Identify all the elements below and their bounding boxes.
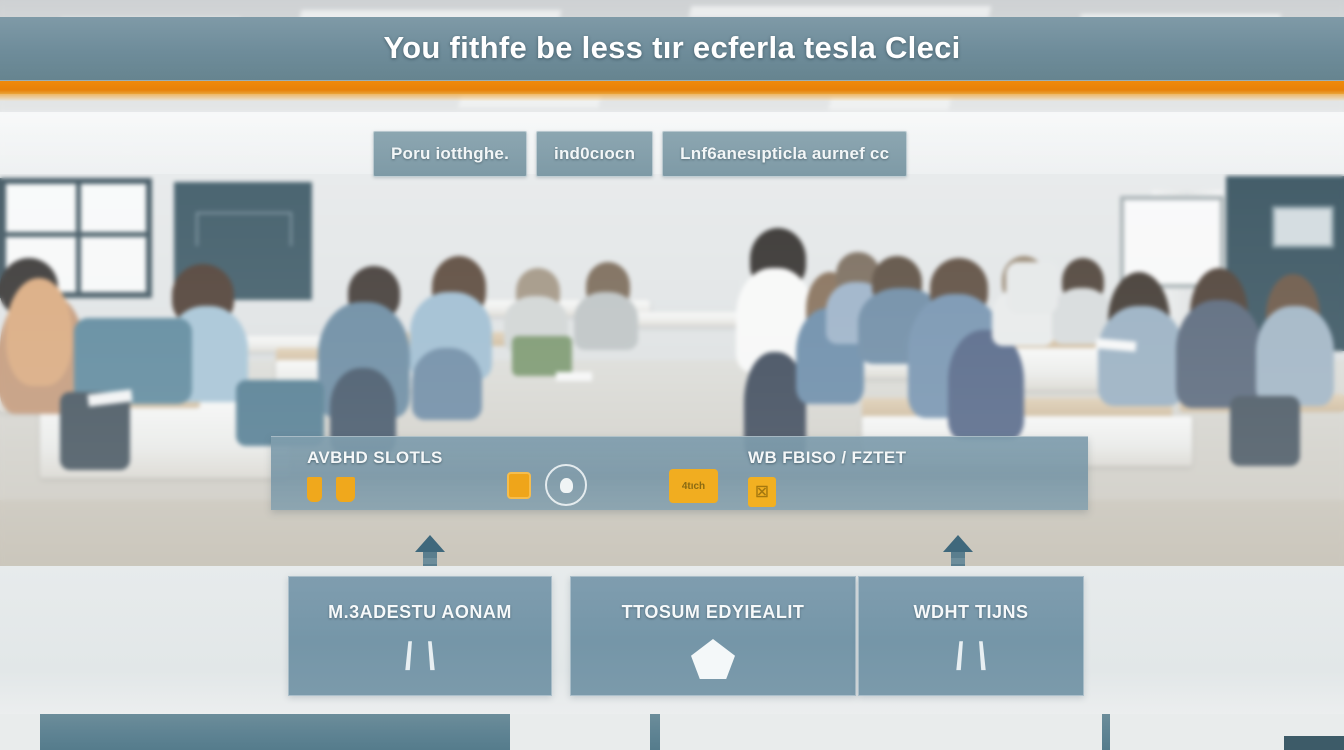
ticket-icon[interactable]: 4tıch bbox=[669, 469, 718, 503]
chevron-thin-icon bbox=[407, 639, 433, 669]
tab-item-2[interactable]: ind0cıocn bbox=[536, 131, 653, 177]
header-accent-glow bbox=[0, 94, 1344, 101]
tab-label: Lnf6anesıpticla aurnef cc bbox=[680, 144, 889, 164]
toolbar-section-fbiso: WB FBISO / FZTET ☒ bbox=[748, 448, 906, 507]
scissors-tile-icon[interactable]: ☒ bbox=[748, 477, 776, 507]
badge-icon[interactable] bbox=[307, 477, 322, 502]
footer-tab-left bbox=[0, 714, 40, 750]
note-icon[interactable] bbox=[507, 472, 531, 499]
footer-corner-block bbox=[1284, 736, 1344, 750]
tab-item-3[interactable]: Lnf6anesıpticla aurnef cc bbox=[662, 131, 907, 177]
tab-label: Poru iotthghe. bbox=[391, 144, 509, 164]
card-title: WDHT TIJNS bbox=[859, 602, 1083, 623]
toolbar-section-icons: ☒ bbox=[748, 477, 906, 507]
wall-screen bbox=[1272, 206, 1334, 248]
toolbar-section-media bbox=[507, 464, 587, 506]
header-bar: You fithfe be less tır ecferla tesla Cle… bbox=[0, 17, 1344, 81]
toolbar-section-icons bbox=[507, 464, 587, 506]
wall-shelf bbox=[196, 212, 292, 246]
card-item-2[interactable]: TTOSUM EDYIEALIT bbox=[570, 576, 856, 696]
tab-item-1[interactable]: Poru iotthghe. bbox=[373, 131, 527, 177]
toolbar-section-label: WB FBISO / FZTET bbox=[748, 448, 906, 468]
card-title: TTOSUM EDYIEALIT bbox=[571, 602, 855, 623]
app-root: You fithfe be less tır ecferla tesla Cle… bbox=[0, 0, 1344, 750]
tab-label: ind0cıocn bbox=[554, 144, 635, 164]
pentagon-icon bbox=[691, 639, 735, 679]
chevron-thin-icon bbox=[958, 639, 984, 669]
toolbar-section-slots: AVBHD SLOTLS bbox=[307, 448, 443, 502]
badge-icon[interactable] bbox=[336, 477, 355, 502]
tab-list: Poru iotthghe. ind0cıocn Lnf6anesıpticla… bbox=[373, 131, 907, 177]
card-item-3[interactable]: WDHT TIJNS bbox=[858, 576, 1084, 696]
page-title: You fithfe be less tır ecferla tesla Cle… bbox=[0, 30, 1344, 66]
toolbar-section-ticket: 4tıch bbox=[669, 469, 718, 503]
toolbar-section-label: AVBHD SLOTLS bbox=[307, 448, 443, 468]
bulb-circle-icon[interactable] bbox=[545, 464, 587, 506]
card-item-1[interactable]: M.3ADESTU AONAM bbox=[288, 576, 552, 696]
ticket-icon-label: 4tıch bbox=[682, 481, 705, 492]
toolbar-panel: AVBHD SLOTLS 4tıch WB FBISO / FZTET ☒ bbox=[271, 436, 1088, 510]
toolbar-section-icons bbox=[307, 477, 443, 502]
footer-tab-mid bbox=[510, 714, 650, 750]
floor-shadow bbox=[0, 500, 1344, 568]
footer-tab-wide bbox=[660, 714, 1102, 750]
header-accent-stripe bbox=[0, 81, 1344, 94]
scissors-tile-glyph: ☒ bbox=[755, 483, 768, 501]
card-title: M.3ADESTU AONAM bbox=[289, 602, 551, 623]
